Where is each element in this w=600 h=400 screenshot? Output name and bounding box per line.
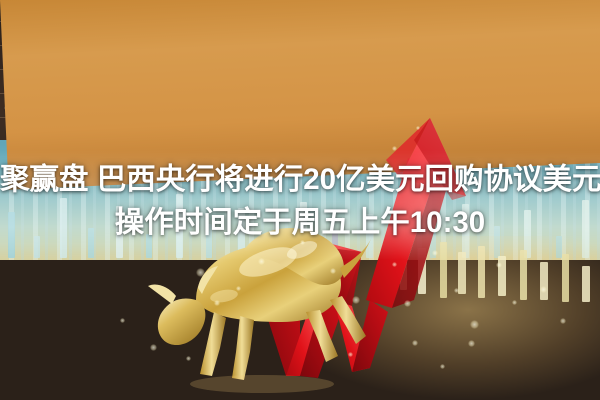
bokeh-dot — [560, 318, 566, 324]
bokeh-dot — [330, 268, 336, 274]
headline-line-2: 操作时间定于周五上午10:30 — [0, 201, 600, 244]
bokeh-dot — [236, 286, 241, 291]
bokeh-dot — [258, 258, 265, 265]
bokeh-dot — [416, 126, 420, 130]
bokeh-dot — [512, 300, 517, 305]
bokeh-dot — [496, 262, 502, 268]
bokeh-dot — [540, 286, 547, 293]
bokeh-dot — [120, 318, 125, 323]
bokeh-dot — [454, 288, 459, 293]
bokeh-dot — [196, 268, 205, 277]
bokeh-dot — [440, 364, 445, 369]
bokeh-dot — [150, 344, 157, 351]
bokeh-dot — [214, 300, 220, 306]
headline-line-1: 聚赢盘 巴西央行将进行20亿美元回购协议美元拍卖 — [0, 158, 600, 201]
headline-block: 聚赢盘 巴西央行将进行20亿美元回购协议美元拍卖 操作时间定于周五上午10:30 — [0, 158, 600, 244]
bokeh-dot — [432, 250, 438, 256]
news-banner-image: 1578945015469812120705007898105652469635… — [0, 0, 600, 400]
bokeh-dot — [470, 320, 479, 329]
bokeh-dot — [352, 296, 360, 304]
bokeh-dot — [348, 352, 353, 357]
bokeh-dot — [412, 340, 418, 346]
bokeh-dot — [468, 340, 475, 347]
bokeh-dot — [186, 356, 191, 361]
bokeh-dot — [392, 146, 397, 151]
bokeh-dot — [404, 300, 411, 307]
bokeh-dot — [392, 262, 397, 267]
